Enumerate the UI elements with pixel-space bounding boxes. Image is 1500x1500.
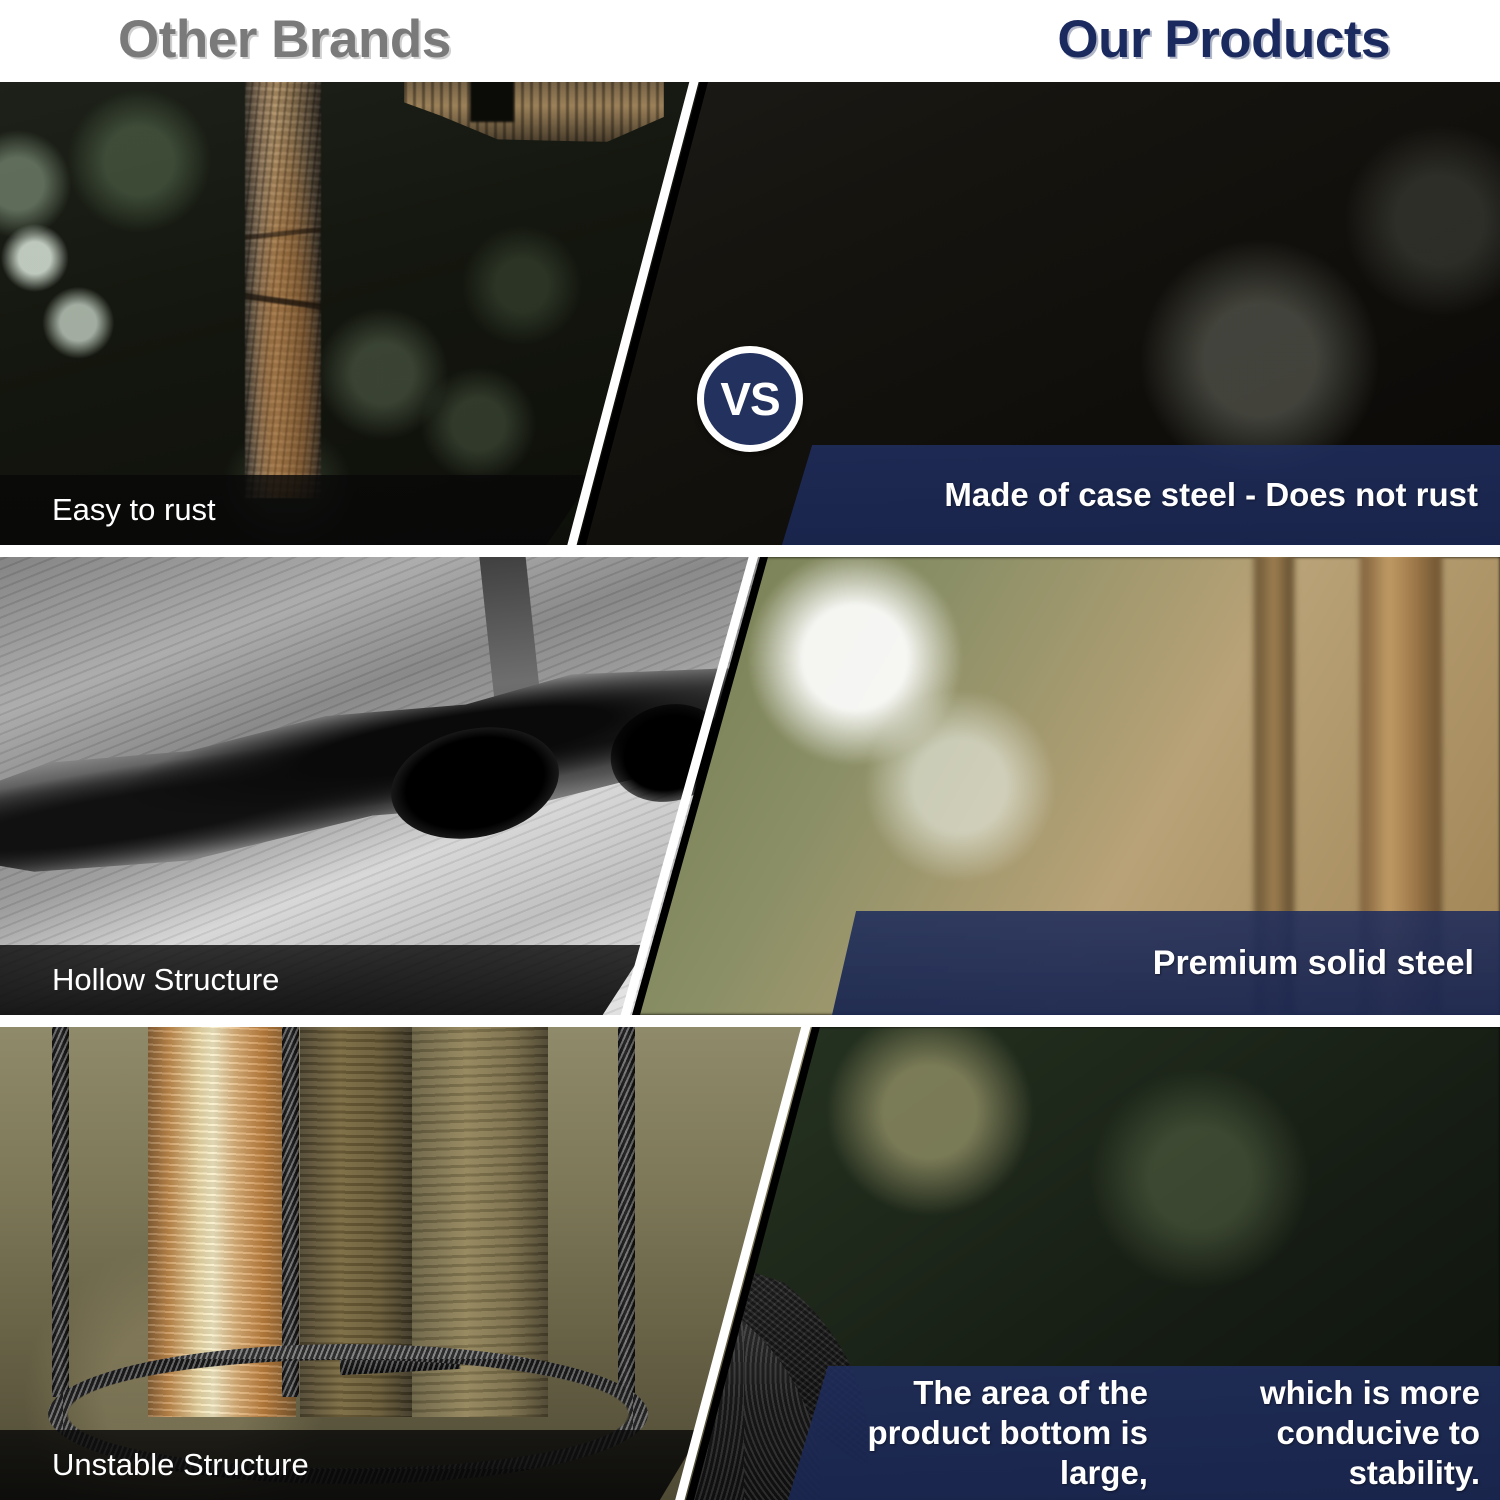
rusted-bracket-shape: [404, 82, 664, 142]
bracket-gap-shape: [470, 82, 514, 122]
caption-unstable-structure: Unstable Structure: [0, 1430, 702, 1500]
caption-line-2: which is more conducive to stability.: [1148, 1373, 1480, 1494]
comparison-row-hollow: Hollow Structure Premium solid steel VS: [0, 557, 1500, 1015]
header-title-other-brands: Other Brands: [118, 4, 451, 76]
header-title-our-products: Our Products: [1057, 4, 1390, 76]
caption-made-of-case-steel: Made of case steel - Does not rust: [782, 445, 1500, 545]
rebar-bar-shape: [618, 1027, 635, 1397]
comparison-row-stability: Unstable Structure The area of the produ…: [0, 1027, 1500, 1500]
rebar-bar-shape: [282, 1027, 299, 1397]
rusted-pole-shape: [245, 82, 321, 498]
caption-line-1: The area of the product bottom is large,: [788, 1373, 1148, 1494]
comparison-row-rust: Easy to rust Made of case steel - Does n…: [0, 82, 1500, 545]
caption-premium-solid-steel: Premium solid steel: [832, 911, 1500, 1015]
rebar-bar-shape: [52, 1027, 69, 1397]
comparison-infographic: Other Brands Our Products Easy to rust M…: [0, 0, 1500, 1500]
header-bar: Other Brands Our Products: [0, 0, 1500, 82]
caption-hollow-structure: Hollow Structure: [0, 945, 648, 1015]
caption-product-bottom-area: The area of the product bottom is large,…: [788, 1366, 1500, 1500]
vs-badge: VS: [697, 346, 803, 452]
caption-easy-to-rust: Easy to rust: [0, 475, 594, 545]
